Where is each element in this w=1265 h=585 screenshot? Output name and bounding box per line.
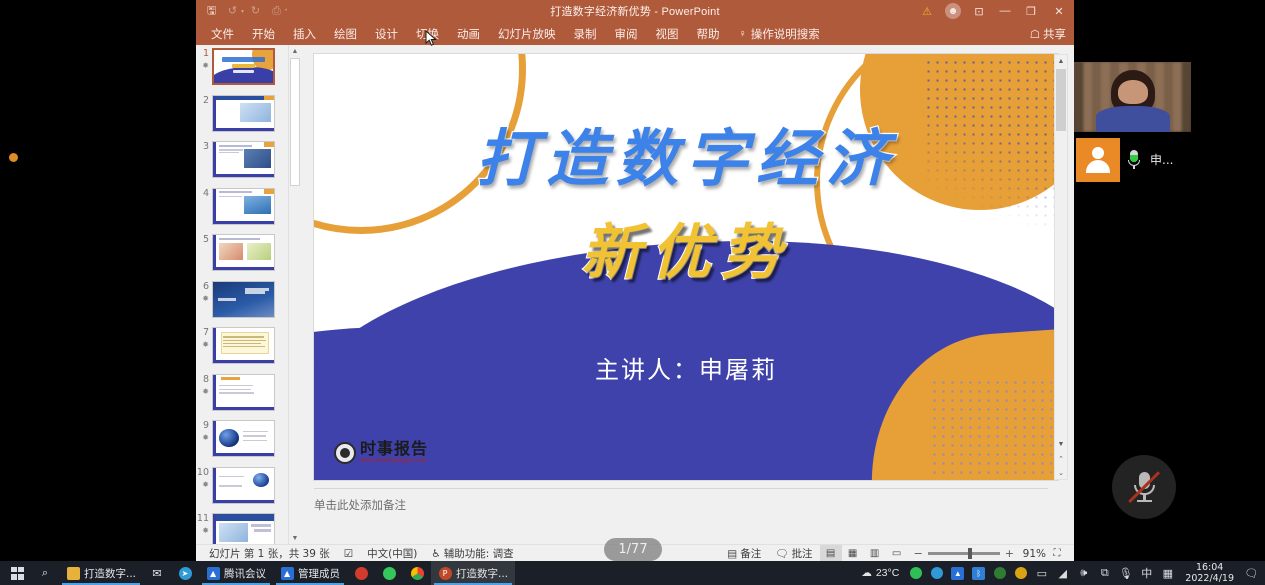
save-icon[interactable]: 🖫 <box>202 2 221 20</box>
thumbnail-slide-11[interactable]: 11✸ <box>196 510 288 544</box>
share-button[interactable]: ☖ 共享 <box>1030 26 1074 42</box>
zoom-knob[interactable] <box>968 548 972 559</box>
thumbnail-number: 2 <box>203 95 209 106</box>
thumbnail-number: 5 <box>203 234 209 245</box>
animation-star-icon: ✸ <box>196 432 209 443</box>
taskbar-powerpoint[interactable]: P 打造数字... <box>431 561 515 585</box>
ribbon-tab-help[interactable]: 帮助 <box>688 24 729 44</box>
participant-status-row: 申... <box>1128 150 1173 169</box>
thumbnail-number: 4 <box>203 188 209 199</box>
thumbnail-slide-7[interactable]: 7✸ <box>196 324 288 371</box>
search-icon: ⌕ <box>38 566 52 580</box>
clock[interactable]: 16:04 2022/4/19 <box>1179 562 1240 584</box>
taskbar-file-explorer[interactable]: 打造数字... <box>59 561 143 585</box>
thumbnail-number: 11 <box>197 513 209 524</box>
paper-plane-icon: ➤ <box>178 566 192 580</box>
thumbnail-slide-2[interactable]: 2 <box>196 92 288 139</box>
thumbnail-scrollbar[interactable]: ▲ ▼ <box>288 45 300 544</box>
notes-divider <box>314 488 1048 489</box>
accessibility-icon: ♿ <box>431 548 440 560</box>
normal-view-button[interactable]: ▤ <box>820 545 842 561</box>
thumbnail-slide-5[interactable]: 5 <box>196 231 288 278</box>
accessibility-status[interactable]: ♿ 辅助功能: 调查 <box>424 546 520 561</box>
window-controls: ⚠ ☻ ⊡ — ❐ ✕ <box>914 0 1074 22</box>
taskbar-telegram[interactable]: ➤ <box>171 561 199 585</box>
thumbnail-preview <box>212 48 275 85</box>
participant-avatar-body <box>1096 106 1170 132</box>
tell-me-label: 操作说明搜索 <box>751 26 820 42</box>
ribbon-tab-transitions[interactable]: 切换 <box>407 24 448 44</box>
taskbar-chrome[interactable] <box>403 561 431 585</box>
thumbnail-preview <box>212 95 275 132</box>
thumbnail-preview <box>212 467 275 504</box>
previous-slide-button[interactable]: ⌃ <box>1055 452 1067 465</box>
thumbnail-preview <box>212 420 275 457</box>
thumbnail-slide-9[interactable]: 9✸ <box>196 417 288 464</box>
warning-icon[interactable]: ⚠ <box>914 0 940 22</box>
animation-star-icon: ✸ <box>196 60 209 71</box>
taskbar-manage-members[interactable]: ▲ 管理成员 <box>273 561 347 585</box>
screenshot-icon[interactable]: ⧉ <box>1095 561 1114 585</box>
restore-icon[interactable]: ❐ <box>1018 0 1044 22</box>
scroll-down-icon[interactable]: ▼ <box>1055 438 1067 451</box>
participant-video-tile[interactable] <box>1074 62 1191 132</box>
redo-icon[interactable]: ↻ <box>246 2 265 20</box>
desktop-screen: 🖫 ↺ ▾ ↻ ⎙ • 打造数字经济新优势 - PowerPoint ⚠ ☻ ⊡… <box>0 0 1265 585</box>
thumbnail-number: 7 <box>203 327 209 338</box>
share-person-icon: ☖ <box>1030 27 1040 41</box>
thumbnail-preview <box>212 141 275 178</box>
ribbon-tab-review[interactable]: 审阅 <box>606 24 647 44</box>
reading-view-button[interactable]: ▥ <box>864 545 886 561</box>
slide-scrollbar[interactable]: ▲ ▼ ⌃ ⌄ <box>1054 54 1068 480</box>
ribbon-tab-view[interactable]: 视图 <box>647 24 688 44</box>
search-button[interactable]: ⌕ <box>31 561 59 585</box>
scroll-down-icon[interactable]: ▼ <box>289 532 300 544</box>
thumbnail-preview <box>212 513 275 544</box>
participant-name: 申... <box>1150 151 1173 168</box>
comments-label: 批注 <box>792 546 813 561</box>
start-slideshow-icon[interactable]: ⎙ <box>267 2 286 20</box>
animation-star-icon: ✸ <box>196 479 209 490</box>
animation-star-icon: ✸ <box>196 525 209 536</box>
ribbon-tab-draw[interactable]: 绘图 <box>325 24 366 44</box>
clock-date: 2022/4/19 <box>1185 573 1234 584</box>
slide-thumbnail-pane: 1✸ 2 3 <box>196 45 300 544</box>
taskbar-wechat[interactable] <box>375 561 403 585</box>
thumbnail-slide-8[interactable]: 8✸ <box>196 371 288 418</box>
zoom-percentage[interactable]: 91% <box>1020 548 1046 560</box>
ribbon-tab-home[interactable]: 开始 <box>243 24 284 44</box>
thumbnail-preview <box>212 327 275 364</box>
notes-placeholder[interactable]: 单击此处添加备注 <box>314 497 406 513</box>
thumbnail-slide-4[interactable]: 4 <box>196 185 288 232</box>
slide-subtitle[interactable]: 新优势 <box>314 204 1058 291</box>
thumbnail-slide-10[interactable]: 10✸ <box>196 464 288 511</box>
temperature-label: 23°C <box>876 567 899 579</box>
microphone-icon[interactable]: 🎙 <box>1116 561 1135 585</box>
scrollbar-thumb[interactable] <box>290 58 300 186</box>
taskbar-label: 腾讯会议 <box>224 566 266 581</box>
thumbnail-number: 8 <box>203 374 209 385</box>
taskbar-left: ⌕ 打造数字... ✉ ➤ ▲ 腾讯会议 ▲ 管理成员 <box>0 561 515 585</box>
ribbon-display-options-icon[interactable]: ⊡ <box>966 0 992 22</box>
notifications-icon[interactable]: 🗨 <box>1242 561 1261 585</box>
lightbulb-icon: ♀ <box>739 28 747 40</box>
tencent-meeting-icon: ▲ <box>206 566 220 580</box>
close-icon[interactable]: ✕ <box>1044 0 1074 22</box>
thumbnail-slide-1[interactable]: 1✸ <box>196 45 288 92</box>
zoom-track[interactable] <box>928 552 1000 555</box>
ribbon-tab-insert[interactable]: 插入 <box>284 24 325 44</box>
animation-star-icon: ✸ <box>196 339 209 350</box>
slide-presenter[interactable]: 主讲人：申屠莉 <box>314 350 1058 385</box>
logo-name: 时事报告 <box>360 441 428 457</box>
person-icon <box>1085 147 1111 173</box>
tray-blue-app-icon[interactable] <box>927 561 946 585</box>
undo-dropdown-icon[interactable]: ▾ <box>241 8 244 15</box>
comment-icon: 🗨 <box>775 547 788 560</box>
editor-body: 1✸ 2 3 <box>196 45 1074 544</box>
thumbnail-preview <box>212 234 275 271</box>
microphone-active-icon[interactable] <box>1128 150 1140 169</box>
windows-taskbar: ⌕ 打造数字... ✉ ➤ ▲ 腾讯会议 ▲ 管理成员 <box>0 561 1265 585</box>
thumbnail-preview <box>212 188 275 225</box>
thumbnail-number: 9 <box>203 420 209 431</box>
slide-count-label[interactable]: 幻灯片 第 1 张，共 39 张 <box>202 546 337 561</box>
language-label[interactable]: 中文(中国) <box>360 546 424 561</box>
tray-security-icon[interactable] <box>990 561 1009 585</box>
notes-label: 备注 <box>740 546 761 561</box>
tencent-meeting-icon: ▲ <box>280 566 294 580</box>
taskbar-mail[interactable]: ✉ <box>143 561 171 585</box>
system-tray: ☁ 23°C ▲ ᛒ ▭ ◢ 🕪 ⧉ 🎙 中 ▦ 16:04 2022/4/19… <box>856 561 1265 585</box>
ribbon-tab-slideshow[interactable]: 幻灯片放映 <box>489 24 565 44</box>
tray-battery-icon[interactable]: ▭ <box>1032 561 1051 585</box>
powerpoint-icon: P <box>438 566 452 580</box>
decor-dot-grid-bottom-icon <box>930 378 1052 474</box>
powerpoint-window: 🖫 ↺ ▾ ↻ ⎙ • 打造数字经济新优势 - PowerPoint ⚠ ☻ ⊡… <box>196 0 1074 561</box>
slide-title[interactable]: 打造数字经济 <box>314 108 1058 198</box>
animation-star-icon: ✸ <box>196 293 209 304</box>
chrome-icon <box>410 566 424 580</box>
slide-canvas[interactable]: 打造数字经济 新优势 主讲人：申屠莉 时事报告 www.shishibaogao… <box>314 54 1058 480</box>
ime-chinese-icon[interactable]: 中 <box>1137 561 1156 585</box>
cloud-icon: ☁ <box>861 567 872 579</box>
thumbnail-number: 6 <box>203 281 209 292</box>
ribbon-tab-file[interactable]: 文件 <box>202 24 243 44</box>
minimize-icon[interactable]: — <box>992 0 1018 22</box>
folder-icon <box>66 566 80 580</box>
account-icon[interactable]: ☻ <box>940 0 966 22</box>
thumbnail-number: 10 <box>197 467 209 478</box>
scroll-up-icon[interactable]: ▲ <box>1055 55 1067 68</box>
thumbnail-list[interactable]: 1✸ 2 3 <box>196 45 288 544</box>
notes-button[interactable]: ▤ 备注 <box>720 546 768 561</box>
thumbnail-preview <box>212 374 275 411</box>
status-bar-right: ▤ 备注 🗨 批注 ▤ ▦ ▥ ▭ − + 91% ⛶ <box>720 545 1068 561</box>
windows-logo-icon <box>11 567 24 580</box>
taskbar-label: 打造数字... <box>84 566 136 581</box>
ribbon-tab-design[interactable]: 设计 <box>366 24 407 44</box>
spellcheck-icon[interactable]: ☑ <box>337 548 360 560</box>
zoom-out-button[interactable]: − <box>914 547 923 560</box>
slideshow-view-button[interactable]: ▭ <box>886 545 908 561</box>
ime-keyboard-icon[interactable]: ▦ <box>1158 561 1177 585</box>
scrollbar-thumb[interactable] <box>1056 69 1066 131</box>
customize-quick-access-icon[interactable]: • <box>285 8 287 14</box>
title-bar: 🖫 ↺ ▾ ↻ ⎙ • 打造数字经济新优势 - PowerPoint ⚠ ☻ ⊡… <box>196 0 1074 22</box>
undo-icon[interactable]: ↺ <box>223 2 242 20</box>
ribbon-tab-record[interactable]: 录制 <box>565 24 606 44</box>
animation-star-icon: ✸ <box>196 386 209 397</box>
comments-button[interactable]: 🗨 批注 <box>768 546 819 561</box>
slide-logo: 时事报告 www.shishibaogao.com <box>334 441 428 464</box>
mute-microphone-button[interactable] <box>1112 455 1176 519</box>
thumbnail-slide-6[interactable]: 6✸ <box>196 278 288 325</box>
zoom-in-button[interactable]: + <box>1005 547 1014 560</box>
participant-avatar-tile[interactable] <box>1076 138 1120 182</box>
tray-update-icon[interactable] <box>1011 561 1030 585</box>
mail-icon: ✉ <box>150 566 164 580</box>
zoom-slider[interactable]: − + <box>908 547 1020 560</box>
taskbar-tencent-meeting[interactable]: ▲ 腾讯会议 <box>199 561 273 585</box>
notes-icon: ▤ <box>727 548 737 560</box>
fit-to-window-button[interactable]: ⛶ <box>1046 545 1068 561</box>
volume-icon[interactable]: 🕪 <box>1074 561 1093 585</box>
weather-widget[interactable]: ☁ 23°C <box>856 567 904 579</box>
thumbnail-slide-3[interactable]: 3 <box>196 138 288 185</box>
tray-meeting-icon[interactable]: ▲ <box>948 561 967 585</box>
thumbnail-number: 3 <box>203 141 209 152</box>
slide-editing-stage: 打造数字经济 新优势 主讲人：申屠莉 时事报告 www.shishibaogao… <box>300 45 1074 544</box>
start-button[interactable] <box>4 561 31 585</box>
share-label: 共享 <box>1043 26 1066 42</box>
thumbnail-number: 1 <box>203 48 209 59</box>
tray-bluetooth-icon[interactable]: ᛒ <box>969 561 988 585</box>
logo-url: www.shishibaogao.com <box>360 458 428 464</box>
ribbon-tab-animations[interactable]: 动画 <box>448 24 489 44</box>
logo-eye-icon <box>334 442 356 464</box>
clock-time: 16:04 <box>1196 562 1223 573</box>
page-indicator-overlay: 1/77 <box>604 538 662 561</box>
tell-me-search[interactable]: ♀ 操作说明搜索 <box>739 26 820 42</box>
next-slide-button[interactable]: ⌄ <box>1055 466 1067 479</box>
thumbnail-preview <box>212 281 275 318</box>
quick-access-toolbar: 🖫 ↺ ▾ ↻ ⎙ • <box>196 2 287 20</box>
tray-green-app-icon[interactable] <box>906 561 925 585</box>
accessibility-label: 辅助功能: 调查 <box>444 546 514 561</box>
network-icon[interactable]: ◢ <box>1053 561 1072 585</box>
desktop-orange-dot <box>9 153 18 162</box>
taskbar-red-app[interactable] <box>347 561 375 585</box>
red-app-icon <box>354 566 368 580</box>
taskbar-label: 管理成员 <box>298 566 340 581</box>
slide-sorter-view-button[interactable]: ▦ <box>842 545 864 561</box>
taskbar-label: 打造数字... <box>456 566 508 581</box>
scroll-up-icon[interactable]: ▲ <box>289 45 300 57</box>
ribbon-tab-bar: 文件 开始 插入 绘图 设计 切换 动画 幻灯片放映 录制 审阅 视图 帮助 ♀… <box>196 22 1074 45</box>
wechat-icon <box>382 566 396 580</box>
